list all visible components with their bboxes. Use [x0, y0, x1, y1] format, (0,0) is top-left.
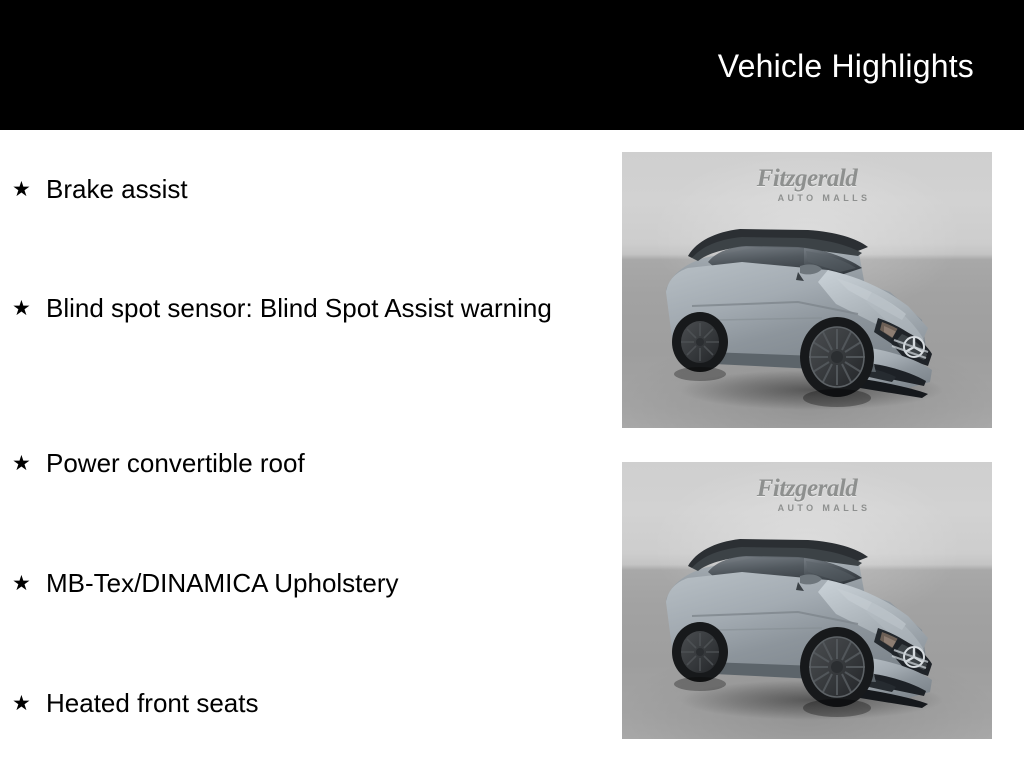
- star-bullet-icon: ★: [12, 566, 32, 601]
- list-item: ★ Blind spot sensor: Blind Spot Assist w…: [12, 291, 572, 326]
- list-item-label: Brake assist: [46, 172, 572, 207]
- star-bullet-icon: ★: [12, 291, 32, 326]
- list-item-label: Blind spot sensor: Blind Spot Assist war…: [46, 291, 572, 326]
- list-item-label: Power convertible roof: [46, 446, 572, 481]
- slide-vehicle-highlights: Vehicle Highlights ★ Brake assist ★ Blin…: [0, 0, 1024, 768]
- star-bullet-icon: ★: [12, 686, 32, 721]
- page-title: Vehicle Highlights: [718, 46, 974, 86]
- list-item: ★ Power convertible roof: [12, 446, 572, 481]
- vehicle-photo-bottom: Fitzgerald AUTO MALLS: [622, 462, 992, 739]
- star-bullet-icon: ★: [12, 172, 32, 207]
- list-item-label: Heated front seats: [46, 686, 572, 721]
- vehicle-image-bottom: [622, 462, 992, 739]
- vehicle-photo-top: Fitzgerald AUTO MALLS: [622, 152, 992, 428]
- list-item: ★ Brake assist: [12, 172, 572, 207]
- list-item: ★ Heated front seats: [12, 686, 572, 721]
- star-bullet-icon: ★: [12, 446, 32, 481]
- vehicle-image-top: [622, 152, 992, 428]
- vehicle-highlights-list: ★ Brake assist ★ Blind spot sensor: Blin…: [0, 130, 600, 768]
- list-item-label: MB-Tex/DINAMICA Upholstery: [46, 566, 572, 601]
- header-band: Vehicle Highlights: [0, 0, 1024, 130]
- list-item: ★ MB-Tex/DINAMICA Upholstery: [12, 566, 572, 601]
